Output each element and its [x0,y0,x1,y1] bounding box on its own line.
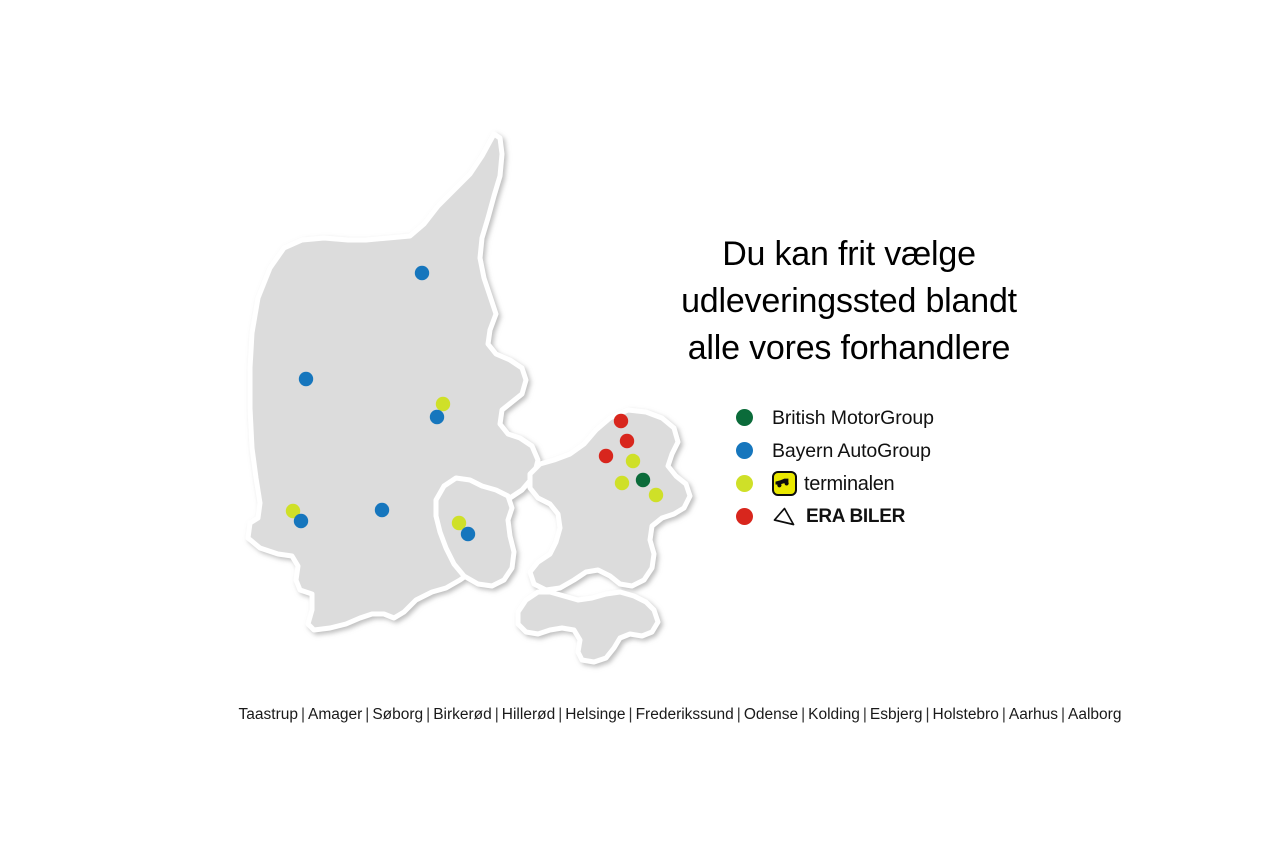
city-separator: | [423,706,433,723]
map-marker[interactable] [415,266,429,280]
city-separator: | [362,706,372,723]
region-zealand [530,410,690,590]
era-biler-logo-icon [772,506,798,528]
map-marker[interactable] [636,473,650,487]
map-landmasses [248,134,690,662]
legend-item-terminalen: terminalen [736,467,1066,500]
city-name: Kolding [808,706,860,723]
denmark-map-svg [238,118,708,678]
legend-dot-icon-british-motorgroup [736,409,753,426]
map-marker[interactable] [614,414,628,428]
legend-item-era-biler: ERA BILER [736,500,1066,533]
headline-line-2: udleveringssted blandt [628,278,1070,325]
brand-legend: British MotorGroup Bayern AutoGroup term… [736,401,1066,533]
city-name: Helsinge [565,706,625,723]
city-name: Esbjerg [870,706,923,723]
legend-label-british-motorgroup: British MotorGroup [772,407,934,429]
map-marker[interactable] [626,454,640,468]
city-name: Birkerød [433,706,492,723]
city-name: Holstebro [933,706,999,723]
legend-dot-icon-era-biler [736,508,753,525]
city-separator: | [626,706,636,723]
region-lolland-falster [518,592,658,662]
terminalen-logo-icon [772,471,797,496]
legend-item-bayern-autogroup: Bayern AutoGroup [736,434,1066,467]
map-marker[interactable] [620,434,634,448]
map-marker[interactable] [436,397,450,411]
legend-dot-icon-terminalen [736,475,753,492]
legend-label-bayern-autogroup: Bayern AutoGroup [772,440,931,462]
legend-label-terminalen: terminalen [804,473,894,495]
city-separator: | [492,706,502,723]
page-title: Du kan frit vælge udleveringssted blandt… [628,231,1070,372]
legend-label-era-biler: ERA BILER [806,506,905,528]
city-name: Aalborg [1068,706,1121,723]
city-separator: | [734,706,744,723]
legend-item-british-motorgroup: British MotorGroup [736,401,1066,434]
city-separator: | [860,706,870,723]
map-marker[interactable] [299,372,313,386]
city-separator: | [922,706,932,723]
city-separator: | [999,706,1009,723]
city-separator: | [1058,706,1068,723]
city-separator: | [298,706,308,723]
poster-canvas: Du kan frit vælge udleveringssted blandt… [0,0,1280,853]
city-separator: | [798,706,808,723]
city-name: Aarhus [1009,706,1058,723]
city-name: Odense [744,706,798,723]
map-marker[interactable] [430,410,444,424]
city-name: Hillerød [502,706,555,723]
city-separator: | [555,706,565,723]
map-marker[interactable] [599,449,613,463]
city-name: Søborg [372,706,423,723]
denmark-map [238,118,708,678]
headline-line-3: alle vores forhandlere [628,325,1070,372]
headline-line-1: Du kan frit vælge [628,231,1070,278]
map-marker[interactable] [649,488,663,502]
map-marker[interactable] [615,476,629,490]
city-name: Taastrup [239,706,298,723]
city-name: Amager [308,706,362,723]
map-marker[interactable] [461,527,475,541]
city-name: Frederikssund [636,706,734,723]
city-list: Taastrup|Amager|Søborg|Birkerød|Hillerød… [150,704,1210,726]
map-marker[interactable] [375,503,389,517]
legend-dot-icon-bayern-autogroup [736,442,753,459]
map-marker[interactable] [294,514,308,528]
